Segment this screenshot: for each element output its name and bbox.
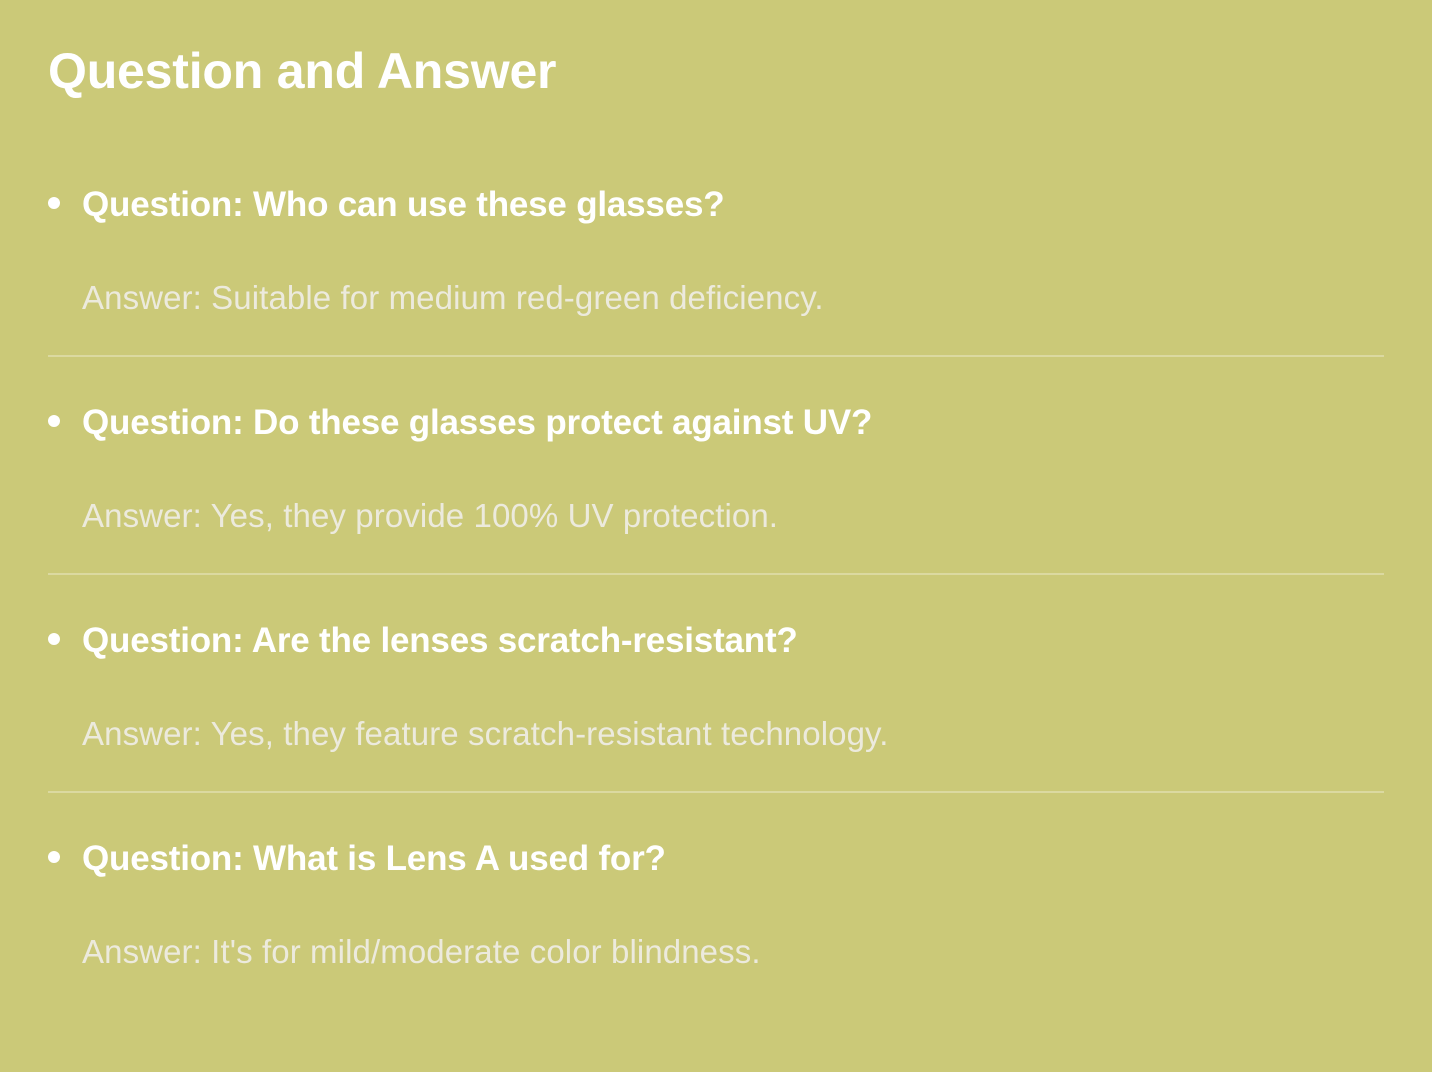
qa-list: Question: Who can use these glasses? Ans… [0, 165, 1432, 1037]
list-item: Question: Do these glasses protect again… [0, 383, 1432, 601]
question-text: Question: Who can use these glasses? [82, 183, 724, 227]
answer-text: Answer: It's for mild/moderate color bli… [82, 931, 1392, 974]
question-and-answer-panel: Question and Answer Question: Who can us… [0, 0, 1432, 1072]
bullet-dot-icon [48, 633, 60, 645]
bullet-dot-icon [48, 415, 60, 427]
question-row: Question: Do these glasses protect again… [48, 401, 1392, 445]
question-row: Question: Who can use these glasses? [48, 183, 1392, 227]
question-row: Question: What is Lens A used for? [48, 837, 1392, 881]
question-text: Question: Are the lenses scratch-resista… [82, 619, 798, 663]
question-row: Question: Are the lenses scratch-resista… [48, 619, 1392, 663]
question-text: Question: What is Lens A used for? [82, 837, 666, 881]
list-item: Question: Are the lenses scratch-resista… [0, 601, 1432, 819]
answer-text: Answer: Yes, they provide 100% UV protec… [82, 495, 1392, 538]
page-title: Question and Answer [48, 44, 556, 99]
question-text: Question: Do these glasses protect again… [82, 401, 872, 445]
bullet-dot-icon [48, 851, 60, 863]
list-item: Question: Who can use these glasses? Ans… [0, 165, 1432, 383]
list-item: Question: What is Lens A used for? Answe… [0, 819, 1432, 1037]
answer-text: Answer: Suitable for medium red-green de… [82, 277, 1392, 320]
answer-text: Answer: Yes, they feature scratch-resist… [82, 713, 1392, 756]
bullet-dot-icon [48, 197, 60, 209]
